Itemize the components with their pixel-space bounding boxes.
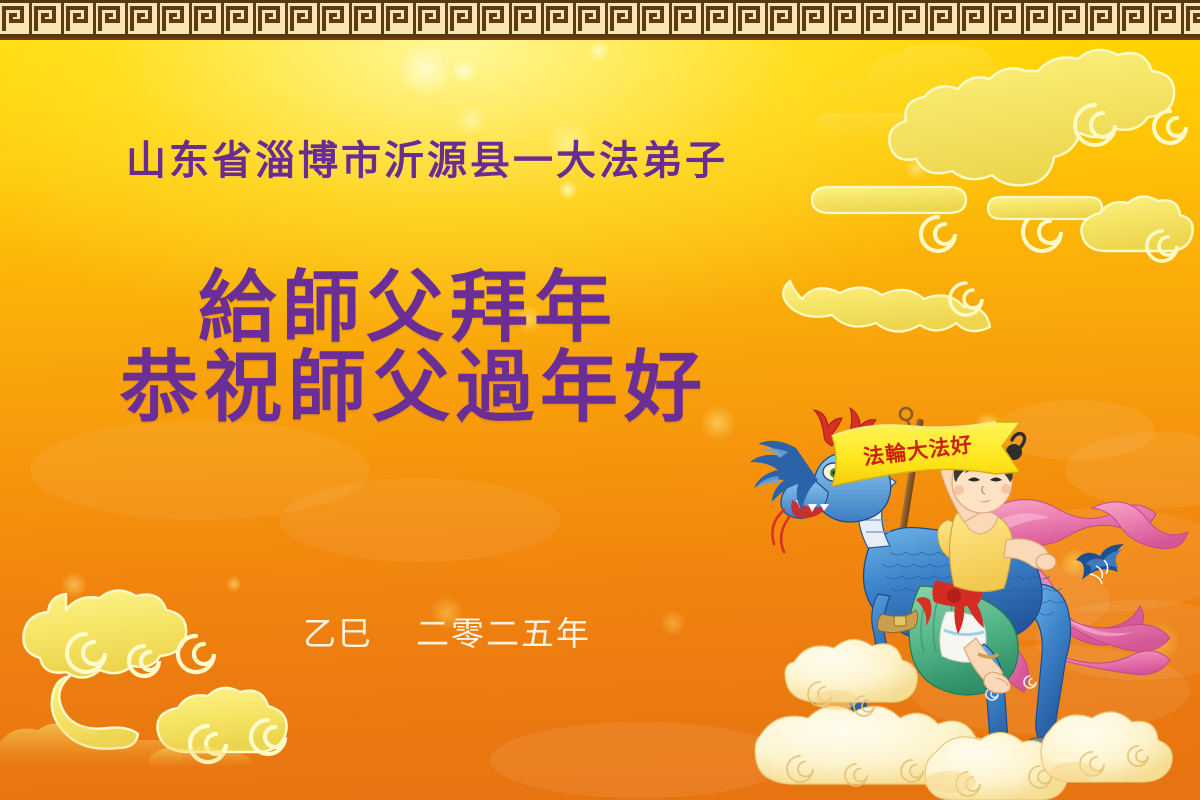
meander-unit — [1024, 3, 1056, 34]
banner-char-2: 大 — [906, 439, 931, 464]
gregorian-year: 二零二五年 — [416, 614, 591, 653]
meander-unit — [448, 3, 480, 34]
meander-unit — [992, 3, 1024, 34]
meander-unit — [640, 3, 672, 34]
meander-unit — [544, 3, 576, 34]
meander-unit — [736, 3, 768, 34]
meander-unit — [96, 3, 128, 34]
decorative-cloud-bottom-left — [0, 580, 330, 800]
meander-unit — [224, 3, 256, 34]
meander-unit — [1120, 3, 1152, 34]
meander-unit — [0, 3, 32, 34]
decorative-cloud-top-right — [770, 45, 1200, 355]
meander-unit — [608, 3, 640, 34]
meander-unit — [960, 3, 992, 34]
meander-unit — [896, 3, 928, 34]
meander-unit — [800, 3, 832, 34]
meander-unit — [1056, 3, 1088, 34]
meander-unit — [288, 3, 320, 34]
meander-unit — [928, 3, 960, 34]
meander-unit — [256, 3, 288, 34]
meander-unit — [416, 3, 448, 34]
meander-unit — [832, 3, 864, 34]
banner-char-4: 好 — [949, 433, 974, 458]
meander-unit — [672, 3, 704, 34]
meander-unit — [32, 3, 64, 34]
greeting-line-2: 恭祝師父過年好 — [120, 343, 708, 433]
date-line: 乙巳 二零二五年 — [303, 612, 591, 656]
meander-unit — [1152, 3, 1184, 34]
meander-unit — [512, 3, 544, 34]
banner-char-3: 法 — [928, 436, 953, 461]
meander-unit — [864, 3, 896, 34]
page-headline: 山东省淄博市沂源县一大法弟子 — [126, 136, 728, 186]
meander-unit — [128, 3, 160, 34]
meander-unit — [192, 3, 224, 34]
greek-key-meander-border — [0, 0, 1200, 40]
meander-unit — [576, 3, 608, 34]
pennant-banner — [828, 418, 1028, 510]
greeting-card: 山东省淄博市沂源县一大法弟子 給師父拜年 恭祝師父過年好 乙巳 二零二五年 — [0, 0, 1200, 800]
meander-unit — [1088, 3, 1120, 34]
cyclical-year: 乙巳 — [303, 614, 373, 653]
meander-unit — [1184, 3, 1200, 34]
meander-unit — [64, 3, 96, 34]
meander-unit — [480, 3, 512, 34]
meander-unit — [704, 3, 736, 34]
meander-unit — [160, 3, 192, 34]
banner-char-1: 輪 — [884, 441, 909, 466]
meander-unit — [320, 3, 352, 34]
greeting-line-1: 給師父拜年 — [198, 263, 618, 353]
meander-unit — [768, 3, 800, 34]
meander-unit — [352, 3, 384, 34]
meander-unit — [384, 3, 416, 34]
banner-char-0: 法 — [862, 444, 887, 469]
